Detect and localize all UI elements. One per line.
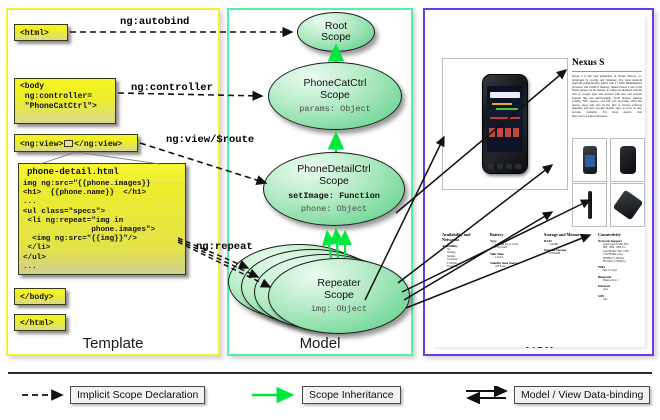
thumbnail-4[interactable] — [610, 183, 645, 227]
phone-front-thumb-icon — [583, 146, 597, 174]
phone-description: Nexus S is the next generation of Nexus … — [572, 75, 642, 118]
spec-values-infrared: false — [598, 288, 644, 291]
ngview-placeholder-icon — [64, 140, 73, 147]
spec-column-battery: Battery Type Lithium Ion (Li-Ion)1500 mA… — [490, 232, 542, 269]
spec-column-storage: Storage and Memory RAM 512MB Internal St… — [544, 232, 596, 256]
scope-repeater-title-line2: Scope — [324, 290, 354, 302]
scope-phonedetailctrl-title-line2: Scope — [319, 176, 349, 188]
diagram-canvas: Template Model View <html> <body ng:cont… — [0, 0, 660, 420]
spec-values-battery-type: Lithium Ion (Li-Ion)1500 mAh — [490, 243, 542, 250]
panel-template-label: Template — [8, 335, 218, 352]
spec-heading-battery: Battery — [490, 232, 542, 237]
phone-screen-bar-orange — [492, 103, 512, 105]
rendered-view-page: Nexus S Nexus S is the next generation o… — [432, 16, 645, 347]
code-box-body-close: </body> — [14, 288, 66, 305]
legend-divider — [8, 372, 652, 374]
phone-title: Nexus S — [572, 58, 642, 68]
code-box-ngview: <ng:view></ng:view> — [14, 134, 138, 152]
phone-screen-bar-green — [496, 108, 518, 110]
spec-heading-availability: Availability and Networks — [442, 232, 484, 242]
code-box-html-open: <html> — [14, 24, 68, 41]
legend-item-implicit-scope: Implicit Scope Declaration — [20, 386, 205, 404]
title-divider — [572, 71, 642, 72]
scope-phonedetailctrl-prop-setimage: setImage: Function — [288, 191, 380, 201]
phone-app-icons — [489, 128, 521, 137]
phone-back-thumb-icon — [620, 146, 636, 174]
thumbnail-2[interactable] — [610, 138, 645, 182]
scope-repeater-title-line1: Repeater — [317, 278, 360, 290]
phone-device-icon — [482, 74, 528, 174]
spec-values-network: Quad-band GSM: 850,900, 1800, 1900 Ev-ba… — [598, 243, 644, 263]
phone-detail-filename: phone-detail.html — [19, 164, 185, 179]
ngview-close-tag: </ng:view> — [74, 140, 122, 149]
panel-model-label: Model — [229, 335, 411, 352]
spec-values-internal-storage: 16384MB — [544, 252, 596, 255]
scope-repeater: Repeater Scope img: Object — [268, 258, 410, 334]
scope-phonedetailctrl: PhoneDetailCtrl Scope setImage: Function… — [263, 152, 405, 226]
phone-screen — [487, 86, 523, 152]
connector-label-autobind: ng:autobind — [120, 16, 189, 28]
spec-heading-connectivity: Connectivity — [598, 232, 644, 237]
phone-side-thumb-icon — [588, 191, 592, 219]
legend-label-implicit-scope: Implicit Scope Declaration — [70, 386, 205, 404]
spec-column-availability: Availability and Networks Availability S… — [442, 232, 484, 268]
scope-phonedetailctrl-title-line1: PhoneDetailCtrl — [297, 164, 371, 176]
phone-detail-source: img ng:src="{{phone.images}} <h1> {{phon… — [19, 179, 185, 273]
scope-root: Root Scope — [297, 12, 375, 52]
spec-heading-storage: Storage and Memory — [544, 232, 596, 237]
thumbnail-3[interactable] — [572, 183, 607, 227]
spec-values-bluetooth: Bluetooth 2.1 — [598, 279, 644, 282]
spec-column-connectivity: Connectivity Network Support Quad-band G… — [598, 232, 644, 301]
legend-label-scope-inheritance: Scope Inheritance — [302, 386, 401, 404]
scope-phonecatctrl-title-line2: Scope — [320, 90, 350, 102]
legend-item-scope-inheritance: Scope Inheritance — [250, 386, 401, 404]
legend-double-arrow-icon — [464, 386, 514, 404]
phone-screen-bar-red — [490, 117, 520, 119]
code-box-body-open: <body ng:controller= "PhoneCatCtrl"> — [14, 78, 116, 124]
phone-search-bar-icon — [490, 92, 520, 98]
scope-phonecatctrl-title-line1: PhoneCatCtrl — [303, 78, 366, 90]
spec-values-wifi: 802.11 b/g/n — [598, 269, 644, 272]
spec-values-talk-time: 6 hours — [490, 256, 542, 259]
spec-values-availability: SriOrange,Singtel,VodafoneT-Mobile,Vodaf… — [442, 248, 484, 268]
scope-phonedetailctrl-prop-phone: phone: Object — [301, 204, 367, 214]
phone-hardware-buttons — [488, 164, 522, 169]
legend-label-data-binding: Model / View Data-binding — [514, 386, 650, 404]
legend-green-arrow-icon — [250, 387, 302, 403]
spec-values-standby: 428 hours — [490, 265, 542, 268]
legend-item-data-binding: Model / View Data-binding — [464, 386, 650, 404]
thumbnail-1[interactable] — [572, 138, 607, 182]
ngview-open-tag: <ng:view> — [20, 140, 63, 149]
scope-phonecatctrl-prop-params: params: Object — [299, 104, 370, 114]
spec-values-ram: 512MB — [544, 243, 596, 246]
connector-label-controller: ng:controller — [131, 82, 213, 94]
legend-dashed-arrow-icon — [20, 387, 70, 403]
scope-phonecatctrl: PhoneCatCtrl Scope params: Object — [268, 62, 402, 130]
connector-label-ngview-route: ng:view/$route — [166, 134, 254, 146]
phone-hero-image-frame — [442, 58, 568, 190]
code-box-html-close: </html> — [14, 314, 66, 331]
scope-root-title-line2: Scope — [321, 32, 351, 44]
scope-repeater-prop-img: img: Object — [311, 304, 367, 314]
connector-label-ngrepeat: ng:repeat — [196, 241, 253, 253]
spec-values-gps: true — [598, 298, 644, 301]
phone-angle-thumb-icon — [612, 190, 643, 221]
code-box-phone-detail-template: phone-detail.html img ng:src="{{phone.im… — [18, 163, 186, 275]
